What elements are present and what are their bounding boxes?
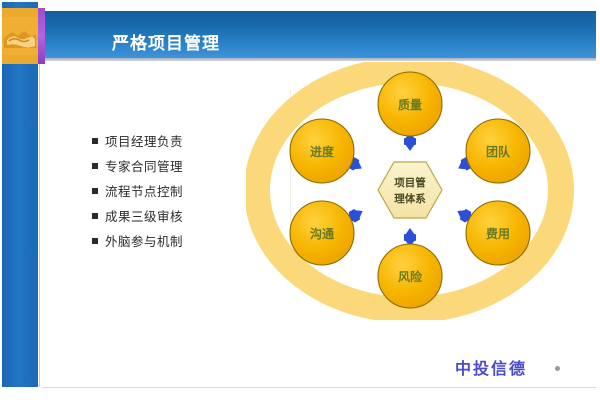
project-management-diagram: 项目管 理体系 质量 团队 费用 风险 沟通: [246, 62, 576, 320]
list-item-label: 专家合同管理: [105, 156, 183, 175]
bullet-list: 项目经理负责 专家合同管理 流程节点控制 成果三级审核 外脑参与机制: [92, 128, 232, 253]
handshake-logo-icon: [2, 8, 38, 64]
node-cost[interactable]: 费用: [466, 201, 530, 265]
hub-node[interactable]: 项目管 理体系: [378, 162, 442, 218]
node-risk[interactable]: 风险: [378, 244, 442, 308]
list-item-label: 外脑参与机制: [105, 231, 183, 250]
node-quality[interactable]: 质量: [378, 72, 442, 136]
hub-label-line1: 项目管: [394, 176, 426, 189]
title-bar-underline: [45, 58, 596, 61]
list-item-label: 成果三级审核: [105, 206, 183, 225]
node-team[interactable]: 团队: [466, 119, 530, 183]
square-bullet-icon: [92, 163, 98, 169]
page-title: 严格项目管理: [112, 29, 220, 54]
square-bullet-icon: [92, 188, 98, 194]
list-item: 专家合同管理: [92, 153, 232, 178]
node-label: 风险: [398, 269, 423, 284]
list-item: 成果三级审核: [92, 203, 232, 228]
brand-name: 中投信德: [455, 355, 527, 379]
list-item: 外脑参与机制: [92, 228, 232, 253]
square-bullet-icon: [92, 213, 98, 219]
list-item-label: 项目经理负责: [105, 131, 183, 150]
purple-accent-strip: [38, 8, 45, 64]
rail-edge-line: [39, 64, 40, 387]
brand-dot-icon: [555, 366, 560, 371]
node-schedule[interactable]: 进度: [290, 119, 354, 183]
footer-rule: [42, 387, 596, 388]
node-label: 费用: [486, 226, 510, 241]
square-bullet-icon: [92, 238, 98, 244]
node-communication[interactable]: 沟通: [290, 201, 354, 265]
slide-canvas: 严格项目管理 项目经理负责 专家合同管理 流程节点控制 成果三级审核 外脑参与机…: [0, 0, 600, 400]
hub-label-line2: 理体系: [394, 192, 426, 205]
node-label: 沟通: [310, 226, 334, 241]
list-item: 流程节点控制: [92, 178, 232, 203]
node-label: 质量: [398, 97, 422, 112]
node-label: 团队: [486, 144, 511, 159]
list-item: 项目经理负责: [92, 128, 232, 153]
node-label: 进度: [310, 144, 335, 159]
square-bullet-icon: [92, 138, 98, 144]
list-item-label: 流程节点控制: [105, 181, 183, 200]
